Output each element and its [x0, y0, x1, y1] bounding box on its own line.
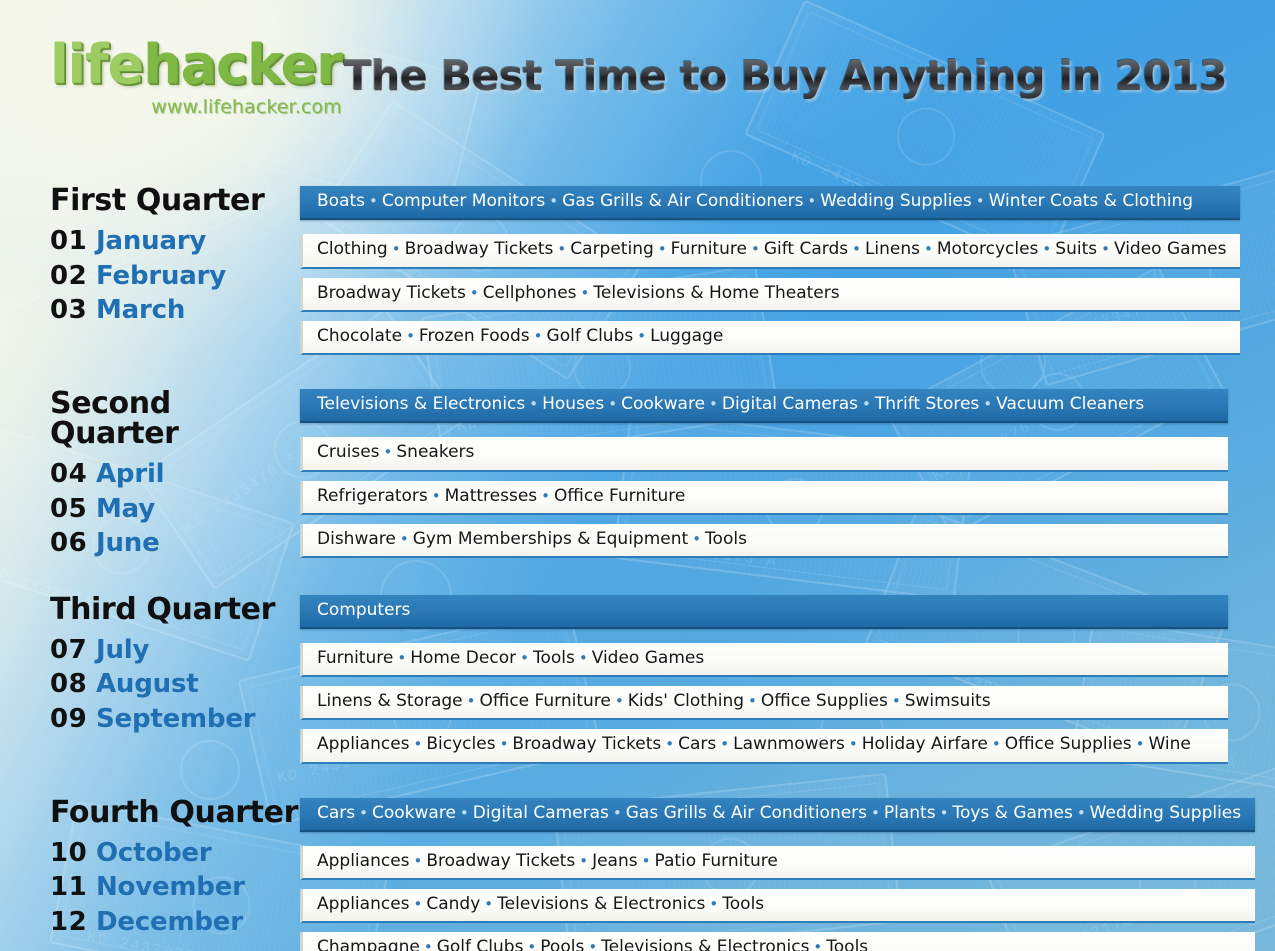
quarter-block: First Quarter01January02February03MarchB…: [0, 186, 1275, 355]
product-item: Frozen Foods: [419, 326, 530, 346]
bullet-separator-icon: •: [525, 395, 542, 413]
quarter-block: Fourth Quarter10October11November12Decem…: [0, 798, 1275, 951]
month-name: November: [96, 870, 245, 905]
month-number: 02: [50, 259, 96, 294]
month-number: 08: [50, 667, 96, 702]
month-items-row: Appliances•Bicycles•Broadway Tickets•Car…: [300, 729, 1228, 763]
product-item: Suits: [1055, 239, 1097, 259]
month-legend-row: 11November: [50, 870, 300, 905]
logo-url[interactable]: www.lifehacker.com: [50, 96, 342, 118]
quarter-block: Third Quarter07July08August09SeptemberCo…: [0, 595, 1275, 764]
quarter-items-panel: ComputersFurniture•Home Decor•Tools•Vide…: [300, 595, 1275, 764]
bullet-separator-icon: •: [809, 938, 826, 951]
product-item: Computer Monitors: [382, 191, 545, 211]
product-item: Tools: [722, 894, 764, 914]
bullet-separator-icon: •: [575, 852, 592, 870]
product-item: Luggage: [650, 326, 723, 346]
month-items-row: Dishware•Gym Memberships & Equipment•Too…: [300, 524, 1228, 558]
product-item: Home Decor: [410, 648, 516, 668]
bullet-separator-icon: •: [355, 804, 372, 822]
product-item: Toys & Games: [952, 803, 1072, 823]
bullet-separator-icon: •: [410, 852, 427, 870]
bullet-separator-icon: •: [545, 192, 562, 210]
product-item: Cars: [317, 803, 355, 823]
product-item: Boats: [317, 191, 365, 211]
product-item: Carpeting: [570, 239, 653, 259]
product-item: Broadway Tickets: [405, 239, 554, 259]
month-name: March: [96, 293, 185, 328]
bullet-separator-icon: •: [920, 240, 937, 258]
month-legend-row: 02February: [50, 259, 300, 294]
bullet-separator-icon: •: [388, 240, 405, 258]
month-legend-row: 03March: [50, 293, 300, 328]
month-number: 07: [50, 633, 96, 668]
quarter-items-panel: Televisions & Electronics•Houses•Cookwar…: [300, 389, 1275, 558]
product-item: Gym Memberships & Equipment: [413, 529, 688, 549]
lifehacker-logo[interactable]: lifehacker www.lifehacker.com: [50, 38, 342, 118]
quarter-header-bar: Cars•Cookware•Digital Cameras•Gas Grills…: [300, 798, 1255, 832]
product-item: Wedding Supplies: [820, 191, 971, 211]
quarter-block: Second Quarter04April05May06JuneTelevisi…: [0, 389, 1275, 561]
product-item: Clothing: [317, 239, 388, 259]
bullet-separator-icon: •: [988, 735, 1005, 753]
bullet-separator-icon: •: [420, 938, 437, 951]
product-item: Appliances: [317, 894, 410, 914]
month-legend-row: 09September: [50, 702, 300, 737]
infographic-poster: KD 2433070 AKD 2433171 AKD 2433272 AKD 2…: [0, 0, 1275, 951]
product-item: Video Games: [592, 648, 705, 668]
quarter-items-panel: Cars•Cookware•Digital Cameras•Gas Grills…: [300, 798, 1275, 951]
bullet-separator-icon: •: [888, 692, 905, 710]
product-item: Video Games: [1114, 239, 1227, 259]
product-item: Tools: [826, 937, 868, 951]
bullet-separator-icon: •: [803, 192, 820, 210]
bullet-separator-icon: •: [705, 395, 722, 413]
bullet-separator-icon: •: [744, 692, 761, 710]
month-name: August: [96, 667, 198, 702]
product-item: Office Furniture: [554, 486, 685, 506]
month-items-row: Linens & Storage•Office Furniture•Kids' …: [300, 686, 1228, 720]
logo-wordmark: lifehacker: [50, 38, 342, 92]
bullet-separator-icon: •: [584, 938, 601, 951]
bullet-separator-icon: •: [393, 649, 410, 667]
product-item: Cruises: [317, 442, 380, 462]
product-item: Refrigerators: [317, 486, 428, 506]
product-item: Gas Grills & Air Conditioners: [562, 191, 803, 211]
bullet-separator-icon: •: [867, 804, 884, 822]
month-number: 04: [50, 457, 96, 492]
month-items-row: Chocolate•Frozen Foods•Golf Clubs•Luggag…: [300, 321, 1240, 355]
month-number: 12: [50, 905, 96, 940]
month-rows: Cruises•SneakersRefrigerators•Mattresses…: [300, 437, 1228, 558]
product-item: Sneakers: [396, 442, 474, 462]
bullet-separator-icon: •: [688, 530, 705, 548]
bullet-separator-icon: •: [530, 327, 547, 345]
quarter-month-legend: Third Quarter07July08August09September: [0, 595, 300, 737]
product-item: Gift Cards: [764, 239, 848, 259]
month-items-row: Refrigerators•Mattresses•Office Furnitur…: [300, 481, 1228, 515]
month-name: April: [96, 457, 164, 492]
month-number: 03: [50, 293, 96, 328]
product-item: Kids' Clothing: [628, 691, 744, 711]
quarter-title: First Quarter: [50, 186, 300, 216]
bullet-separator-icon: •: [972, 192, 989, 210]
product-item: Swimsuits: [905, 691, 991, 711]
page-title: The Best Time to Buy Anything in 2013: [344, 52, 1227, 100]
product-item: Candy: [426, 894, 480, 914]
bullet-separator-icon: •: [936, 804, 953, 822]
bullet-separator-icon: •: [523, 938, 540, 951]
bullet-separator-icon: •: [410, 735, 427, 753]
month-number: 05: [50, 492, 96, 527]
product-item: Televisions & Home Theaters: [593, 283, 839, 303]
quarter-month-legend: First Quarter01January02February03March: [0, 186, 300, 328]
bullet-separator-icon: •: [979, 395, 996, 413]
quarter-header-bar: Computers: [300, 595, 1228, 629]
product-item: Office Supplies: [1005, 734, 1132, 754]
bullet-separator-icon: •: [1132, 735, 1149, 753]
month-items-row: Champagne•Golf Clubs•Pools•Televisions &…: [300, 932, 1255, 951]
quarter-month-legend: Second Quarter04April05May06June: [0, 389, 300, 561]
product-item: Jeans: [592, 851, 638, 871]
product-item: Cars: [678, 734, 716, 754]
month-rows: Appliances•Broadway Tickets•Jeans•Patio …: [300, 846, 1255, 951]
quarter-items-panel: Boats•Computer Monitors•Gas Grills & Air…: [300, 186, 1275, 355]
bullet-separator-icon: •: [845, 735, 862, 753]
month-legend-row: 06June: [50, 526, 300, 561]
product-item: Linens & Storage: [317, 691, 463, 711]
product-item: Cookware: [621, 394, 705, 414]
bullet-separator-icon: •: [858, 395, 875, 413]
month-name: June: [96, 526, 160, 561]
bullet-separator-icon: •: [848, 240, 865, 258]
product-item: Patio Furniture: [654, 851, 777, 871]
product-item: Wedding Supplies: [1090, 803, 1241, 823]
bullet-separator-icon: •: [396, 530, 413, 548]
logo-hacker-text: hacker: [143, 33, 342, 96]
bullet-separator-icon: •: [633, 327, 650, 345]
bullet-separator-icon: •: [716, 735, 733, 753]
bullet-separator-icon: •: [1097, 240, 1114, 258]
bullet-separator-icon: •: [654, 240, 671, 258]
bullet-separator-icon: •: [611, 692, 628, 710]
bullet-separator-icon: •: [609, 804, 626, 822]
bullet-separator-icon: •: [410, 895, 427, 913]
quarter-title: Fourth Quarter: [50, 798, 300, 828]
product-item: Plants: [884, 803, 936, 823]
month-name: September: [96, 702, 255, 737]
month-number: 10: [50, 836, 96, 871]
month-name: December: [96, 905, 243, 940]
product-item: Office Furniture: [480, 691, 611, 711]
product-item: Furniture: [317, 648, 393, 668]
month-rows: Clothing•Broadway Tickets•Carpeting•Furn…: [300, 234, 1240, 355]
month-legend-row: 12December: [50, 905, 300, 940]
month-items-row: Clothing•Broadway Tickets•Carpeting•Furn…: [300, 234, 1240, 268]
product-item: Mattresses: [445, 486, 538, 506]
month-name: February: [96, 259, 226, 294]
quarter-header-bar: Televisions & Electronics•Houses•Cookwar…: [300, 389, 1228, 423]
product-item: Appliances: [317, 734, 410, 754]
product-item: Golf Clubs: [547, 326, 634, 346]
product-item: Holiday Airfare: [862, 734, 988, 754]
month-items-row: Broadway Tickets•Cellphones•Televisions …: [300, 278, 1240, 312]
month-name: January: [96, 224, 206, 259]
month-number: 06: [50, 526, 96, 561]
product-item: Chocolate: [317, 326, 402, 346]
product-item: Houses: [542, 394, 604, 414]
bullet-separator-icon: •: [1038, 240, 1055, 258]
product-item: Televisions & Electronics: [317, 394, 525, 414]
month-number: 11: [50, 870, 96, 905]
bullet-separator-icon: •: [638, 852, 655, 870]
month-items-row: Appliances•Broadway Tickets•Jeans•Patio …: [300, 846, 1255, 880]
bullet-separator-icon: •: [747, 240, 764, 258]
product-item: Televisions & Electronics: [601, 937, 809, 951]
quarter-title: Second Quarter: [50, 389, 300, 449]
product-item: Office Supplies: [761, 691, 888, 711]
bullet-separator-icon: •: [496, 735, 513, 753]
product-item: Tools: [705, 529, 747, 549]
month-legend-row: 08August: [50, 667, 300, 702]
bullet-separator-icon: •: [705, 895, 722, 913]
month-rows: Furniture•Home Decor•Tools•Video GamesLi…: [300, 643, 1228, 764]
product-item: Cellphones: [483, 283, 577, 303]
month-legend-row: 05May: [50, 492, 300, 527]
product-item: Broadway Tickets: [426, 851, 575, 871]
bullet-separator-icon: •: [380, 443, 397, 461]
product-item: Linens: [865, 239, 920, 259]
bullet-separator-icon: •: [466, 284, 483, 302]
bullet-separator-icon: •: [516, 649, 533, 667]
product-item: Tools: [533, 648, 575, 668]
product-item: Vacuum Cleaners: [996, 394, 1144, 414]
product-item: Furniture: [671, 239, 747, 259]
bullet-separator-icon: •: [402, 327, 419, 345]
bullet-separator-icon: •: [463, 692, 480, 710]
product-item: Champagne: [317, 937, 420, 951]
month-name: October: [96, 836, 211, 871]
product-item: Televisions & Electronics: [497, 894, 705, 914]
product-item: Bicycles: [426, 734, 495, 754]
month-legend-row: 07July: [50, 633, 300, 668]
month-name: May: [96, 492, 155, 527]
bullet-separator-icon: •: [480, 895, 497, 913]
quarter-month-legend: Fourth Quarter10October11November12Decem…: [0, 798, 300, 940]
poster-header: lifehacker www.lifehacker.com The Best T…: [0, 0, 1275, 165]
logo-life-text: life: [50, 33, 143, 96]
product-item: Winter Coats & Clothing: [989, 191, 1193, 211]
quarter-title: Third Quarter: [50, 595, 300, 625]
product-item: Computers: [317, 600, 410, 620]
month-items-row: Appliances•Candy•Televisions & Electroni…: [300, 889, 1255, 923]
product-item: Pools: [540, 937, 584, 951]
product-item: Appliances: [317, 851, 410, 871]
bullet-separator-icon: •: [604, 395, 621, 413]
product-item: Wine: [1149, 734, 1191, 754]
product-item: Dishware: [317, 529, 396, 549]
month-legend-row: 04April: [50, 457, 300, 492]
month-name: July: [96, 633, 149, 668]
bullet-separator-icon: •: [1073, 804, 1090, 822]
product-item: Broadway Tickets: [512, 734, 661, 754]
quarters-container: First Quarter01January02February03MarchB…: [0, 186, 1275, 951]
bullet-separator-icon: •: [575, 649, 592, 667]
product-item: Golf Clubs: [437, 937, 524, 951]
product-item: Digital Cameras: [722, 394, 858, 414]
product-item: Cookware: [372, 803, 456, 823]
bullet-separator-icon: •: [553, 240, 570, 258]
bullet-separator-icon: •: [537, 487, 554, 505]
bullet-separator-icon: •: [456, 804, 473, 822]
month-number: 01: [50, 224, 96, 259]
bullet-separator-icon: •: [428, 487, 445, 505]
month-number: 09: [50, 702, 96, 737]
month-legend-row: 10October: [50, 836, 300, 871]
product-item: Thrift Stores: [875, 394, 979, 414]
month-items-row: Furniture•Home Decor•Tools•Video Games: [300, 643, 1228, 677]
product-item: Lawnmowers: [733, 734, 845, 754]
product-item: Motorcycles: [937, 239, 1039, 259]
bullet-separator-icon: •: [577, 284, 594, 302]
product-item: Digital Cameras: [473, 803, 609, 823]
product-item: Gas Grills & Air Conditioners: [626, 803, 867, 823]
quarter-header-bar: Boats•Computer Monitors•Gas Grills & Air…: [300, 186, 1240, 220]
month-legend-row: 01January: [50, 224, 300, 259]
bullet-separator-icon: •: [365, 192, 382, 210]
month-items-row: Cruises•Sneakers: [300, 437, 1228, 471]
product-item: Broadway Tickets: [317, 283, 466, 303]
bullet-separator-icon: •: [661, 735, 678, 753]
